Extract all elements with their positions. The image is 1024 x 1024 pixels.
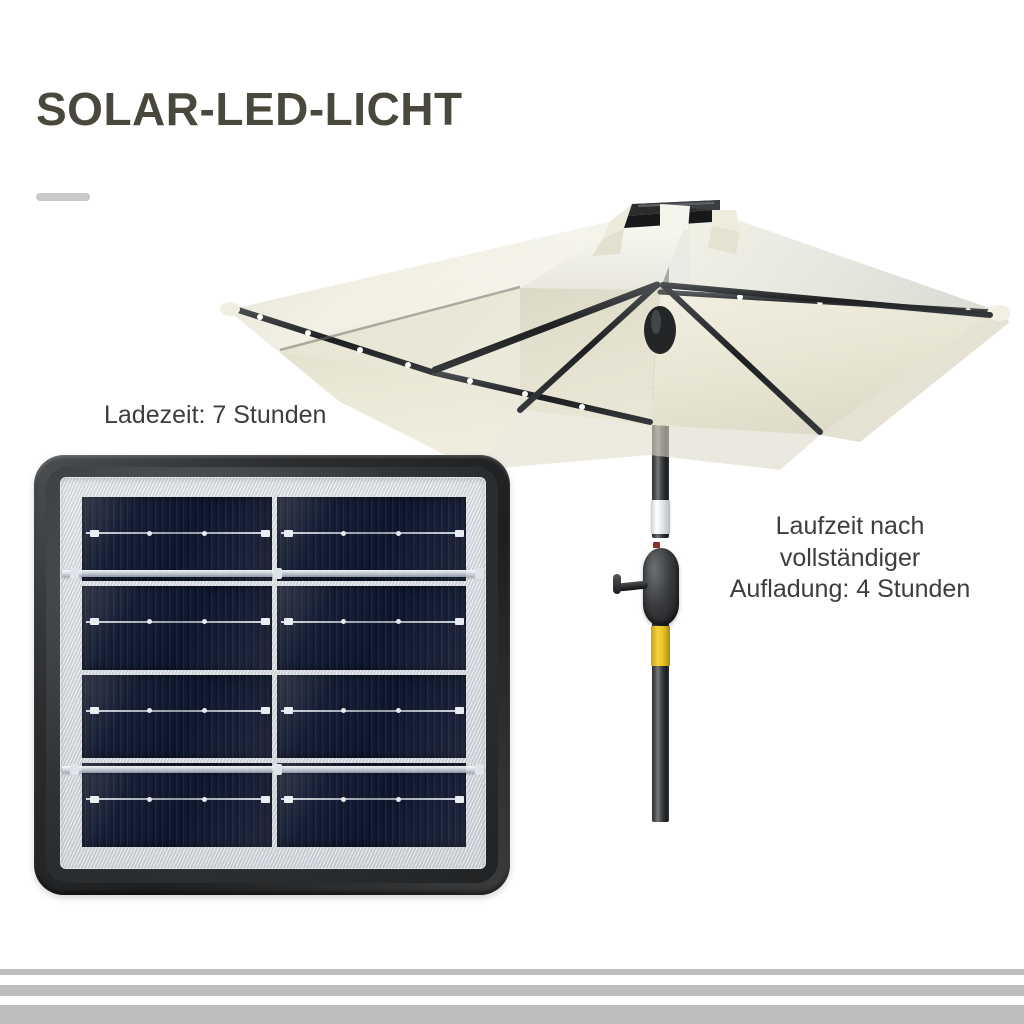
crown-fold-5 — [660, 204, 690, 230]
solar-cell — [82, 586, 272, 670]
product-feature-slide: SOLAR-LED-LICHT — [0, 0, 1024, 1024]
pole-collar — [651, 500, 670, 534]
footer-bar — [0, 969, 1024, 975]
solar-cell-busbar — [281, 621, 465, 623]
canopy-hub-highlight — [651, 310, 661, 334]
canopy-tip-left — [220, 302, 240, 316]
solar-cell-busbar — [86, 621, 270, 623]
crank-handle-knob[interactable] — [613, 574, 621, 594]
led-dot — [522, 391, 528, 397]
solar-cell-busbar — [281, 710, 465, 712]
solar-interconnect-ribbon — [62, 570, 484, 577]
led-dot — [357, 347, 363, 353]
footer-bar — [0, 1005, 1024, 1024]
solar-cell-busbar — [281, 532, 465, 534]
solar-cell — [82, 763, 272, 847]
solar-cell — [277, 675, 467, 759]
solar-interconnect-ribbon — [62, 766, 484, 773]
crank-housing — [643, 548, 679, 626]
led-dot — [579, 404, 585, 410]
callout-runtime-line-2: vollständiger — [676, 543, 1024, 575]
canopy-hub — [644, 306, 676, 354]
solar-cell-busbar — [86, 798, 270, 800]
led-dot — [305, 330, 311, 336]
pole-accent-band — [651, 626, 670, 666]
solar-cell — [82, 675, 272, 759]
led-dot — [467, 378, 473, 384]
led-dot — [405, 362, 411, 368]
solar-cell — [277, 763, 467, 847]
solar-panel-glass — [60, 477, 486, 869]
callout-runtime: Laufzeit nach vollständiger Aufladung: 4… — [676, 511, 1024, 606]
solar-panel-image — [34, 455, 510, 895]
title-divider — [36, 193, 90, 201]
footer-bar — [0, 985, 1024, 996]
umbrella-canopy — [220, 170, 1010, 500]
solar-cell — [277, 497, 467, 581]
solar-cell-busbar — [281, 798, 465, 800]
solar-cell — [277, 586, 467, 670]
solar-cell — [82, 497, 272, 581]
solar-cell-grid — [82, 497, 466, 847]
callout-runtime-line-3: Aufladung: 4 Stunden — [676, 574, 1024, 606]
led-dot — [257, 314, 263, 320]
page-title: SOLAR-LED-LICHT — [36, 86, 463, 132]
callout-charge-time: Ladezeit: 7 Stunden — [104, 400, 326, 432]
callout-runtime-line-1: Laufzeit nach — [676, 511, 1024, 543]
solar-cell-busbar — [86, 532, 270, 534]
solar-cell-busbar — [86, 710, 270, 712]
